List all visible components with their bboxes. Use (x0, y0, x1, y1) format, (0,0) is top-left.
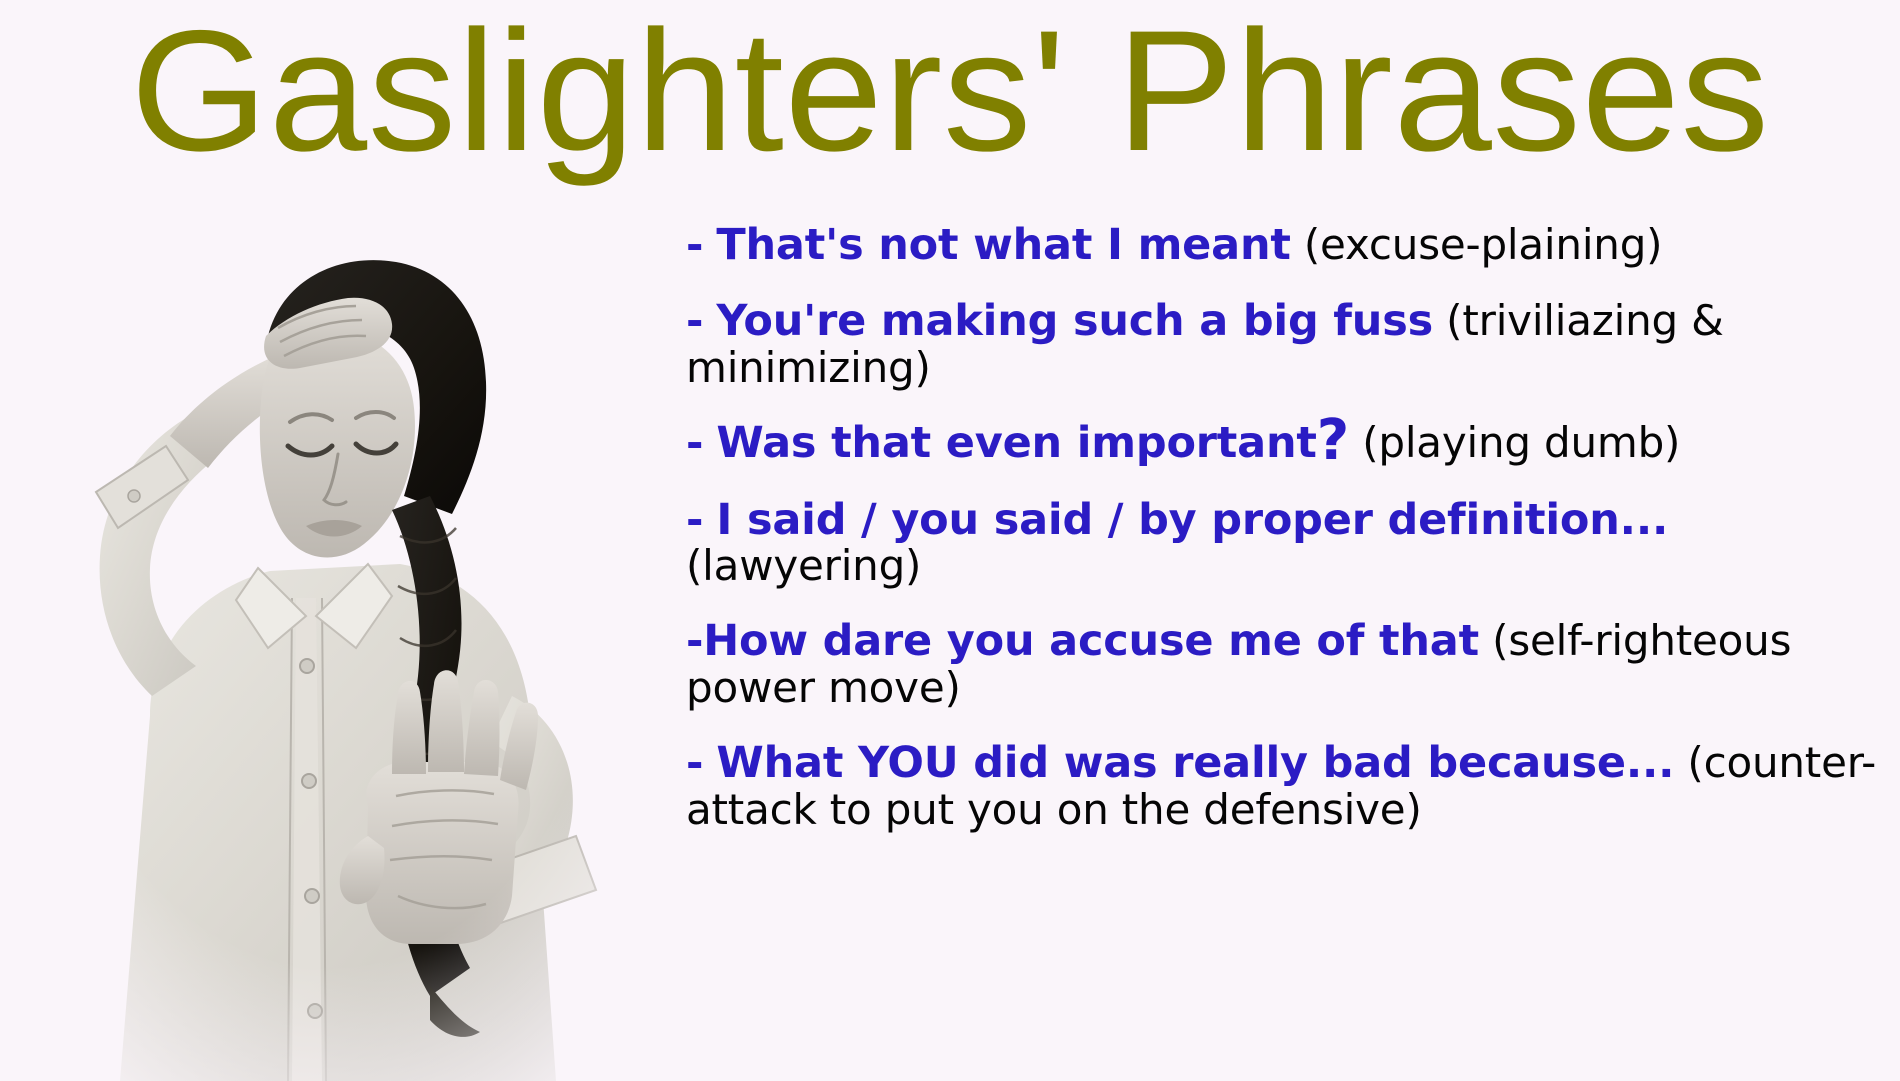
phrase-annotation: (lawyering) (686, 541, 921, 590)
list-item: - Was that even important? (playing dumb… (686, 420, 1886, 466)
bullet-dash: - (686, 495, 703, 544)
phrase-annotation: (excuse-plaining) (1304, 220, 1662, 269)
question-mark: ? (1317, 408, 1349, 473)
bullet-dash: - (686, 616, 703, 665)
bullet-dash: - (686, 418, 703, 467)
phrase-quote: How dare you accuse me of that (703, 616, 1479, 666)
page-title: Gaslighters' Phrases (0, 0, 1900, 186)
list-item: - You're making such a big fuss (trivili… (686, 298, 1886, 390)
bullet-dash: - (686, 220, 703, 269)
phrase-quote: I said / you said / by proper definition… (716, 495, 1668, 545)
phrase-quote: Was that even important (716, 418, 1316, 468)
phrase-list: - That's not what I meant (excuse-plaini… (686, 222, 1886, 832)
phrase-annotation: (playing dumb) (1362, 418, 1680, 467)
list-item: -How dare you accuse me of that (self-ri… (686, 618, 1886, 710)
list-item: - I said / you said / by proper definiti… (686, 497, 1886, 589)
gaslighters-phrases-poster: Gaslighters' Phrases (0, 0, 1900, 1081)
woman-photo (0, 196, 660, 1081)
phrase-quote: That's not what I meant (716, 220, 1290, 270)
woman-photo-illustration (0, 196, 660, 1081)
bullet-dash: - (686, 296, 703, 345)
bullet-dash: - (686, 738, 703, 787)
phrase-quote: You're making such a big fuss (716, 296, 1433, 346)
list-item: - That's not what I meant (excuse-plaini… (686, 222, 1886, 268)
list-item: - What YOU did was really bad because...… (686, 740, 1886, 832)
phrase-quote: What YOU did was really bad because... (716, 738, 1674, 788)
